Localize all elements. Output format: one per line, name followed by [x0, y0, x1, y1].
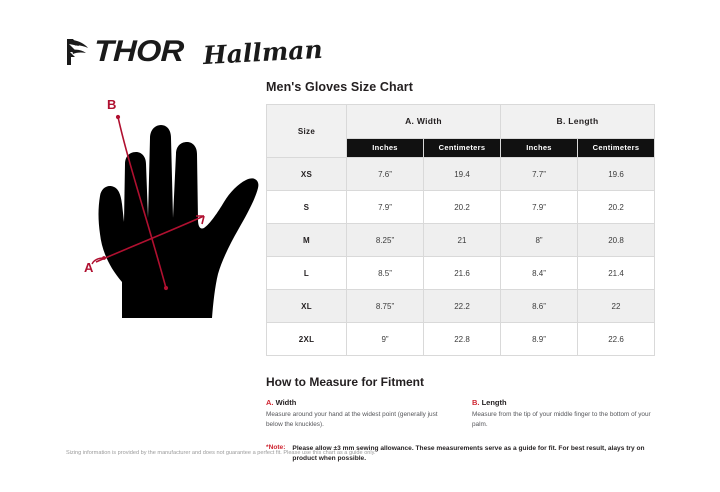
table-row: 2XL 9” 22.8 8.9” 22.6 [267, 323, 655, 356]
table-row: M 8.25” 21 8” 20.8 [267, 224, 655, 257]
col-header-length-inches: Inches [501, 138, 578, 157]
table-header: Size A. Width B. Length Inches Centimete… [267, 105, 655, 158]
diagram-label-a: A [84, 260, 94, 275]
cell-width-cm: 20.2 [424, 191, 501, 224]
thor-logo: THOR [62, 37, 177, 67]
table-row: S 7.9” 20.2 7.9” 20.2 [267, 191, 655, 224]
hand-silhouette [99, 125, 259, 318]
cell-length-in: 8.4” [501, 257, 578, 290]
cell-size: XS [267, 158, 347, 191]
hallman-wordmark: Hallman [202, 36, 323, 67]
cell-size: S [267, 191, 347, 224]
cell-width-in: 9” [347, 323, 424, 356]
cell-length-in: 8.9” [501, 323, 578, 356]
cell-length-cm: 22.6 [578, 323, 655, 356]
cell-length-cm: 22 [578, 290, 655, 323]
cell-width-in: 7.9” [347, 191, 424, 224]
size-chart-table: Size A. Width B. Length Inches Centimete… [266, 104, 655, 356]
cell-size: L [267, 257, 347, 290]
brand-header: THOR Hallman [62, 30, 323, 74]
cell-length-cm: 19.6 [578, 158, 655, 191]
cell-width-in: 8.25” [347, 224, 424, 257]
measure-width-letter: A. [266, 398, 274, 407]
cell-width-in: 7.6” [347, 158, 424, 191]
cell-width-cm: 21 [424, 224, 501, 257]
cell-size: 2XL [267, 323, 347, 356]
col-header-width: A. Width [347, 105, 501, 139]
measure-length-heading: B. Length [472, 398, 656, 407]
cell-size: XL [267, 290, 347, 323]
cell-length-in: 8.6” [501, 290, 578, 323]
how-to-measure-columns: A. Width Measure around your hand at the… [266, 398, 656, 430]
measure-width-block: A. Width Measure around your hand at the… [266, 398, 450, 430]
cell-length-cm: 20.2 [578, 191, 655, 224]
cell-length-cm: 21.4 [578, 257, 655, 290]
cell-length-in: 7.9” [501, 191, 578, 224]
cell-length-in: 7.7” [501, 158, 578, 191]
length-start-dot [116, 115, 120, 119]
thor-bolt-icon [62, 37, 92, 67]
cell-width-cm: 22.8 [424, 323, 501, 356]
col-header-length-centimeters: Centimeters [578, 138, 655, 157]
table-row: XL 8.75” 22.2 8.6” 22 [267, 290, 655, 323]
how-to-measure-title: How to Measure for Fitment [266, 375, 656, 389]
thor-wordmark: THOR [93, 37, 184, 67]
size-chart-panel: Men's Gloves Size Chart Size A. Width B.… [266, 80, 656, 465]
cell-width-cm: 19.4 [424, 158, 501, 191]
cell-width-in: 8.5” [347, 257, 424, 290]
footer-disclaimer: Sizing information is provided by the ma… [66, 448, 376, 458]
hand-measurement-diagram: A B [58, 92, 268, 320]
col-header-width-centimeters: Centimeters [424, 138, 501, 157]
table-body: XS 7.6” 19.4 7.7” 19.6 S 7.9” 20.2 7.9” … [267, 158, 655, 356]
cell-length-in: 8” [501, 224, 578, 257]
measure-length-block: B. Length Measure from the tip of your m… [472, 398, 656, 430]
measure-length-letter: B. [472, 398, 480, 407]
col-header-width-inches: Inches [347, 138, 424, 157]
measure-width-heading: A. Width [266, 398, 450, 407]
page-title: Men's Gloves Size Chart [266, 80, 656, 94]
table-header-row-groups: Size A. Width B. Length [267, 105, 655, 139]
measure-length-name: Length [480, 398, 507, 407]
col-header-length: B. Length [501, 105, 655, 139]
table-row: XS 7.6” 19.4 7.7” 19.6 [267, 158, 655, 191]
col-header-size: Size [267, 105, 347, 158]
measure-width-text: Measure around your hand at the widest p… [266, 410, 450, 430]
table-row: L 8.5” 21.6 8.4” 21.4 [267, 257, 655, 290]
measure-length-text: Measure from the tip of your middle fing… [472, 410, 656, 430]
cell-size: M [267, 224, 347, 257]
cell-width-cm: 21.6 [424, 257, 501, 290]
cell-width-cm: 22.2 [424, 290, 501, 323]
diagram-label-b: B [107, 97, 116, 112]
length-end-dot [164, 286, 168, 290]
measure-width-name: Width [274, 398, 297, 407]
cell-width-in: 8.75” [347, 290, 424, 323]
cell-length-cm: 20.8 [578, 224, 655, 257]
